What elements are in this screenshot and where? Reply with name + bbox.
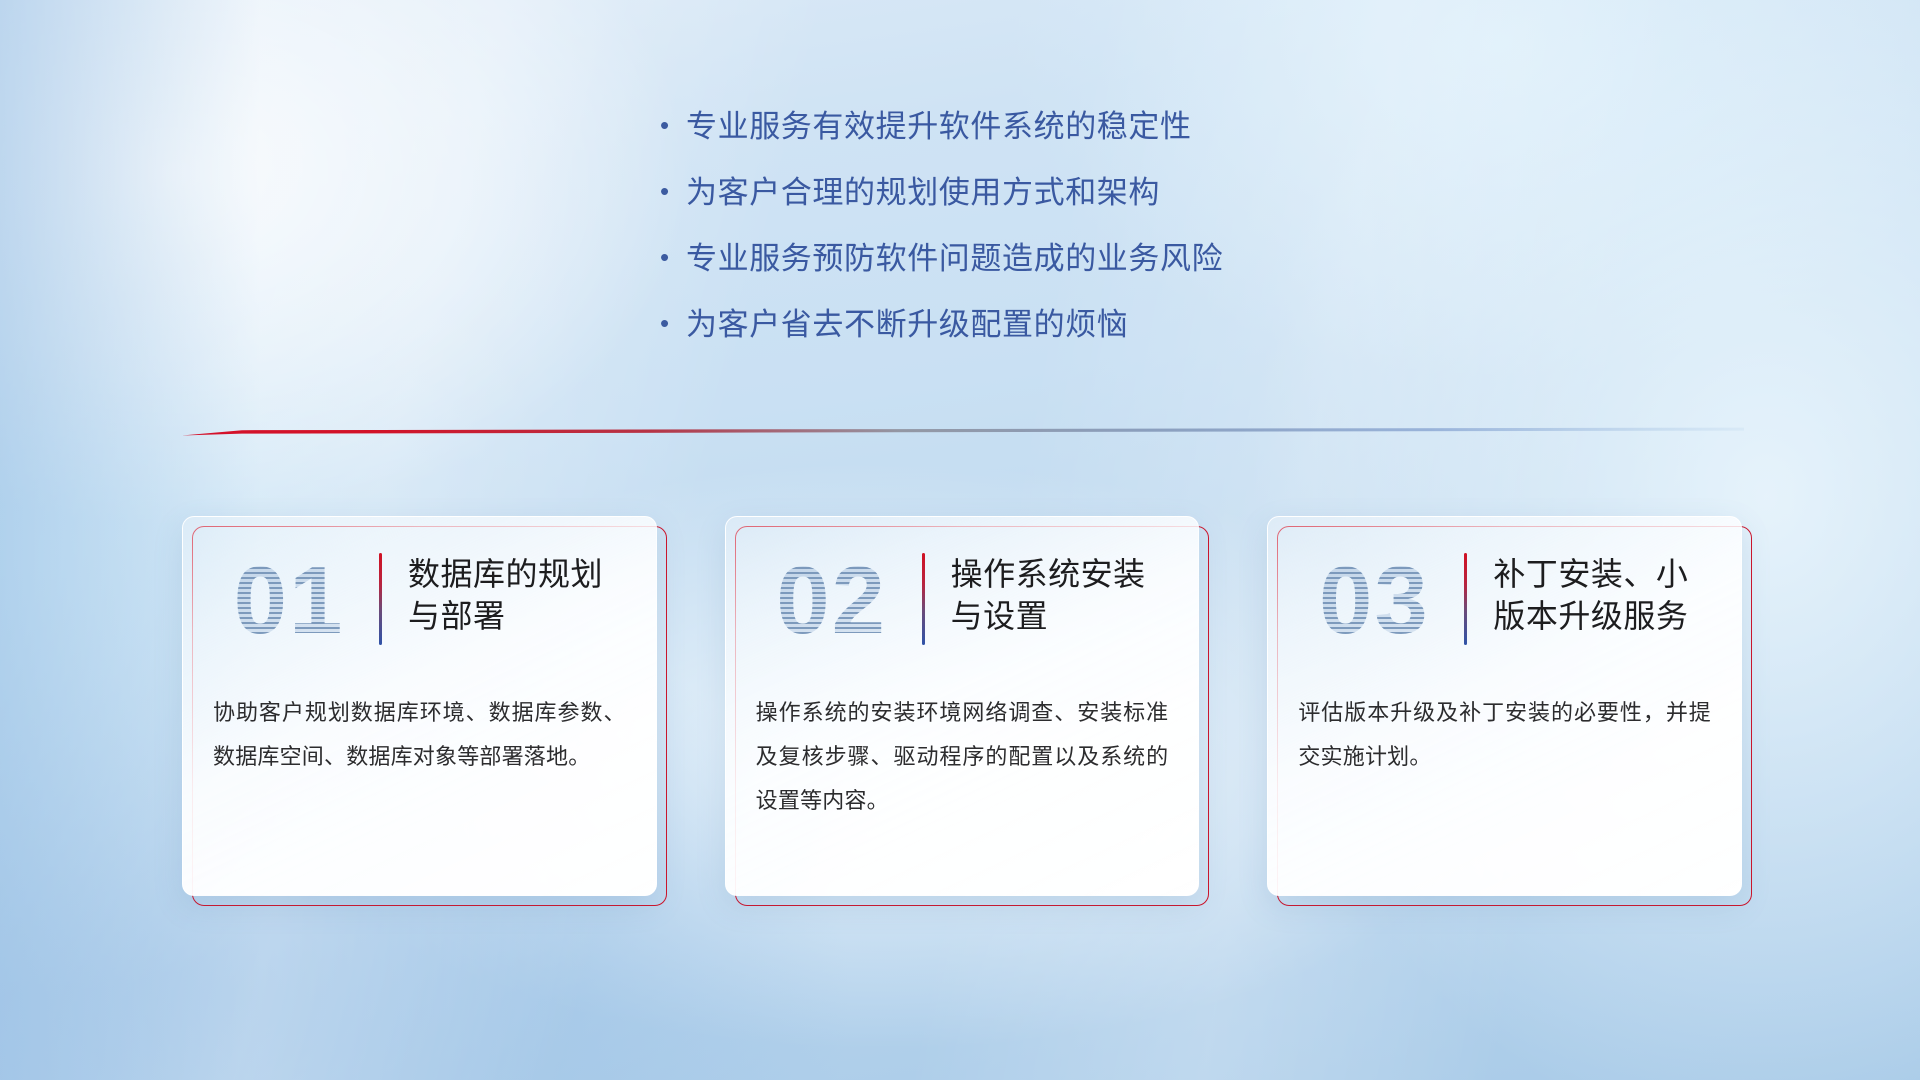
bullet-marker-icon: • [660, 112, 686, 138]
service-card-01[interactable]: 01 数据库的规划与部署 协助客户规划数据库环境、数据库参数、数据库空间、数据库… [182, 516, 667, 906]
card-row: 01 数据库的规划与部署 协助客户规划数据库环境、数据库参数、数据库空间、数据库… [182, 516, 1752, 916]
service-card-03[interactable]: 03 补丁安装、小版本升级服务 评估版本升级及补丁安装的必要性，并提交实施计划。 [1267, 516, 1752, 906]
section-divider [182, 424, 1744, 438]
bullet-text: 专业服务预防软件问题造成的业务风险 [686, 240, 1223, 279]
divider-line-icon [182, 424, 1744, 438]
card-panel: 03 补丁安装、小版本升级服务 评估版本升级及补丁安装的必要性，并提交实施计划。 [1267, 516, 1742, 896]
card-title: 补丁安装、小版本升级服务 [1493, 543, 1719, 637]
list-item: • 为客户合理的规划使用方式和架构 [660, 174, 1480, 240]
list-item: • 为客户省去不断升级配置的烦恼 [660, 306, 1480, 372]
card-number: 02 [748, 547, 916, 655]
card-panel: 01 数据库的规划与部署 协助客户规划数据库环境、数据库参数、数据库空间、数据库… [182, 516, 657, 896]
card-divider-rule [379, 553, 382, 645]
bullet-text: 专业服务有效提升软件系统的稳定性 [686, 108, 1192, 147]
bullet-text: 为客户合理的规划使用方式和架构 [686, 174, 1160, 213]
card-description: 操作系统的安装环境网络调查、安装标准及复核步骤、驱动程序的配置以及系统的设置等内… [726, 677, 1199, 823]
card-divider-rule [922, 553, 925, 645]
bullet-marker-icon: • [660, 244, 686, 270]
list-item: • 专业服务有效提升软件系统的稳定性 [660, 108, 1480, 174]
card-title: 数据库的规划与部署 [408, 543, 634, 637]
card-divider-rule [1464, 553, 1467, 645]
card-description: 评估版本升级及补丁安装的必要性，并提交实施计划。 [1268, 677, 1741, 779]
bullet-text: 为客户省去不断升级配置的烦恼 [686, 306, 1128, 345]
slide-canvas: • 专业服务有效提升软件系统的稳定性 • 为客户合理的规划使用方式和架构 • 专… [0, 0, 1920, 1080]
card-header: 03 补丁安装、小版本升级服务 [1268, 517, 1741, 677]
card-number: 01 [205, 547, 373, 655]
bullet-marker-icon: • [660, 310, 686, 336]
bullet-marker-icon: • [660, 178, 686, 204]
card-description: 协助客户规划数据库环境、数据库参数、数据库空间、数据库对象等部署落地。 [183, 677, 656, 779]
bullet-list: • 专业服务有效提升软件系统的稳定性 • 为客户合理的规划使用方式和架构 • 专… [660, 108, 1480, 372]
card-header: 01 数据库的规划与部署 [183, 517, 656, 677]
card-number: 03 [1290, 547, 1458, 655]
list-item: • 专业服务预防软件问题造成的业务风险 [660, 240, 1480, 306]
card-title: 操作系统安装与设置 [951, 543, 1177, 637]
card-panel: 02 操作系统安装与设置 操作系统的安装环境网络调查、安装标准及复核步骤、驱动程… [725, 516, 1200, 896]
service-card-02[interactable]: 02 操作系统安装与设置 操作系统的安装环境网络调查、安装标准及复核步骤、驱动程… [725, 516, 1210, 906]
card-header: 02 操作系统安装与设置 [726, 517, 1199, 677]
